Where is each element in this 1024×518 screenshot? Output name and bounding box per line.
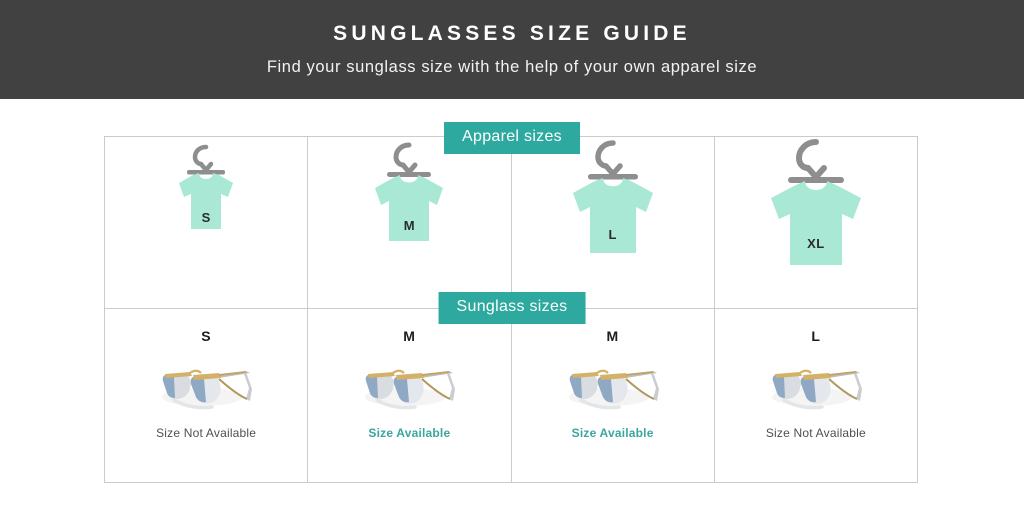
availability-status: Size Not Available — [156, 427, 256, 439]
shirt-graphic-xl: XL — [715, 137, 917, 308]
shirt-graphic-m: M — [308, 137, 510, 308]
sunglass-size-label: M — [403, 329, 415, 343]
apparel-cell-m: M — [308, 137, 511, 308]
shirt-graphic-s: S — [105, 137, 307, 308]
sunglass-size-label: L — [811, 329, 820, 343]
page-title: SUNGLASSES SIZE GUIDE — [333, 23, 691, 44]
tshirt-icon — [354, 137, 464, 267]
availability-status: Size Available — [368, 427, 450, 439]
sunglass-cell-4: L Size Not Available — [715, 309, 917, 482]
sunglasses-icon — [150, 353, 262, 417]
sunglass-cell-2: M Size Available — [308, 309, 511, 482]
page-header: SUNGLASSES SIZE GUIDE Find your sunglass… — [0, 0, 1024, 99]
sunglass-size-label: S — [201, 329, 211, 343]
sunglass-row: S Size Not Available M — [105, 308, 917, 482]
apparel-sizes-badge: Apparel sizes — [444, 122, 580, 154]
shirt-graphic-l: L — [512, 137, 714, 308]
sunglass-sizes-badge: Sunglass sizes — [439, 292, 586, 324]
sunglass-cell-1: S Size Not Available — [105, 309, 308, 482]
availability-status: Size Not Available — [766, 427, 866, 439]
apparel-size-label: M — [404, 219, 415, 232]
tshirt-icon — [743, 137, 889, 292]
tshirt-icon — [161, 137, 251, 257]
tshirt-icon — [549, 137, 677, 279]
page-subtitle: Find your sunglass size with the help of… — [267, 59, 757, 76]
apparel-cell-xl: XL — [715, 137, 917, 308]
apparel-row: S M L — [105, 137, 917, 308]
sunglass-size-label: M — [607, 329, 619, 343]
sunglasses-icon — [353, 353, 465, 417]
apparel-cell-s: S — [105, 137, 308, 308]
sunglass-cell-3: M Size Available — [512, 309, 715, 482]
apparel-size-label: S — [202, 211, 211, 224]
apparel-cell-l: L — [512, 137, 715, 308]
apparel-size-label: XL — [807, 237, 824, 250]
availability-status: Size Available — [572, 427, 654, 439]
sunglasses-icon — [760, 353, 872, 417]
sunglasses-icon — [557, 353, 669, 417]
apparel-size-label: L — [608, 228, 616, 241]
